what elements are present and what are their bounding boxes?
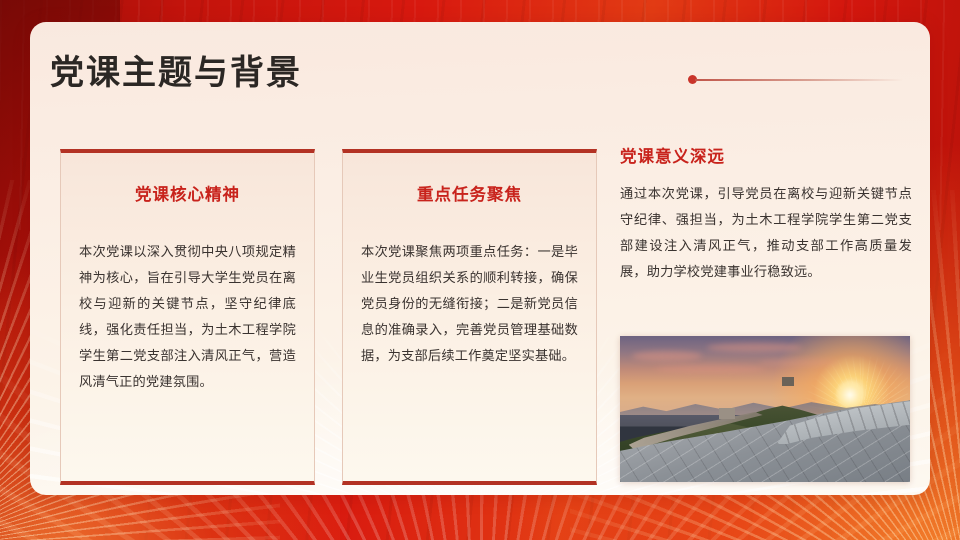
photo-watchtower [719, 408, 735, 419]
right-column-body: 通过本次党课，引导党员在离校与迎新关键节点守纪律、强担当，为土木工程学院学生第二… [620, 181, 912, 285]
photo-cloud [632, 351, 702, 361]
title-decoration [688, 75, 903, 84]
photo-watchtower [782, 377, 794, 386]
right-column-title: 党课意义深远 [620, 148, 912, 168]
photo-sun [835, 380, 865, 410]
card-title: 重点任务聚焦 [361, 181, 578, 205]
page-title: 党课主题与背景 [50, 56, 302, 90]
card-body: 本次党课以深入贯彻中央八项规定精神为核心，旨在引导大学生党员在离校与迎新的关键节… [79, 239, 296, 395]
slide-root: 党课主题与背景 党课核心精神 本次党课以深入贯彻中央八项规定精神为核心，旨在引导… [0, 0, 960, 540]
great-wall-photo [620, 336, 910, 482]
card-key-tasks: 重点任务聚焦 本次党课聚焦两项重点任务：一是毕业生党员组织关系的顺利转接，确保党… [342, 149, 597, 485]
right-column: 党课意义深远 通过本次党课，引导党员在离校与迎新关键节点守纪律、强担当，为土木工… [620, 148, 912, 285]
card-title: 党课核心精神 [79, 181, 296, 205]
card-core-spirit: 党课核心精神 本次党课以深入贯彻中央八项规定精神为核心，旨在引导大学生党员在离校… [60, 149, 315, 485]
decoration-line [695, 79, 903, 81]
photo-illustration [620, 336, 910, 482]
card-body: 本次党课聚焦两项重点任务：一是毕业生党员组织关系的顺利转接，确保党员身份的无缝衔… [361, 239, 578, 369]
